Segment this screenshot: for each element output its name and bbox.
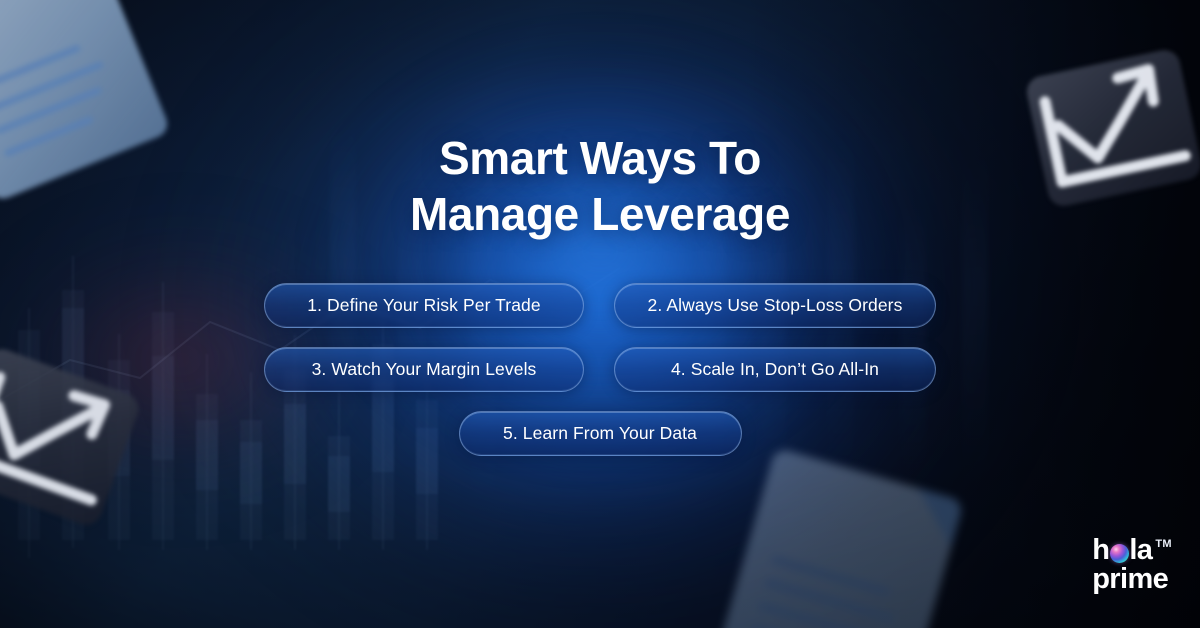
- logo-hola-suffix: la: [1129, 537, 1152, 565]
- tip-pill-4-label: 4. Scale In, Don’t Go All-In: [671, 359, 879, 380]
- tip-pill-5-label: 5. Learn From Your Data: [503, 423, 697, 444]
- tips-row-1: 1. Define Your Risk Per Trade 2. Always …: [0, 283, 1200, 328]
- tip-pill-5[interactable]: 5. Learn From Your Data: [459, 411, 742, 456]
- tip-pill-3-label: 3. Watch Your Margin Levels: [312, 359, 537, 380]
- tips-row-2: 3. Watch Your Margin Levels 4. Scale In,…: [0, 347, 1200, 392]
- logo-hola-prefix: h: [1092, 537, 1109, 565]
- tips-row-3: 5. Learn From Your Data: [0, 411, 1200, 456]
- tip-pill-2-label: 2. Always Use Stop-Loss Orders: [648, 295, 903, 316]
- tip-pill-1-label: 1. Define Your Risk Per Trade: [307, 295, 540, 316]
- tips-list: 1. Define Your Risk Per Trade 2. Always …: [0, 283, 1200, 475]
- logo-word-hola: h la: [1092, 537, 1152, 565]
- tip-pill-3[interactable]: 3. Watch Your Margin Levels: [264, 347, 584, 392]
- headline-line-2: Manage Leverage: [0, 186, 1200, 242]
- logo-top-row: h la TM: [1092, 537, 1172, 565]
- iridescent-sphere-icon: [1110, 544, 1129, 563]
- tip-pill-4[interactable]: 4. Scale In, Don’t Go All-In: [614, 347, 936, 392]
- logo-word-prime: prime: [1092, 566, 1172, 594]
- headline-line-1: Smart Ways To: [439, 132, 761, 184]
- poster-canvas: Smart Ways To Manage Leverage 1. Define …: [0, 0, 1200, 628]
- brand-logo[interactable]: h la TM prime: [1092, 537, 1172, 594]
- trademark-mark: TM: [1155, 539, 1172, 550]
- tip-pill-2[interactable]: 2. Always Use Stop-Loss Orders: [614, 283, 936, 328]
- tip-pill-1[interactable]: 1. Define Your Risk Per Trade: [264, 283, 584, 328]
- page-title: Smart Ways To Manage Leverage: [0, 130, 1200, 242]
